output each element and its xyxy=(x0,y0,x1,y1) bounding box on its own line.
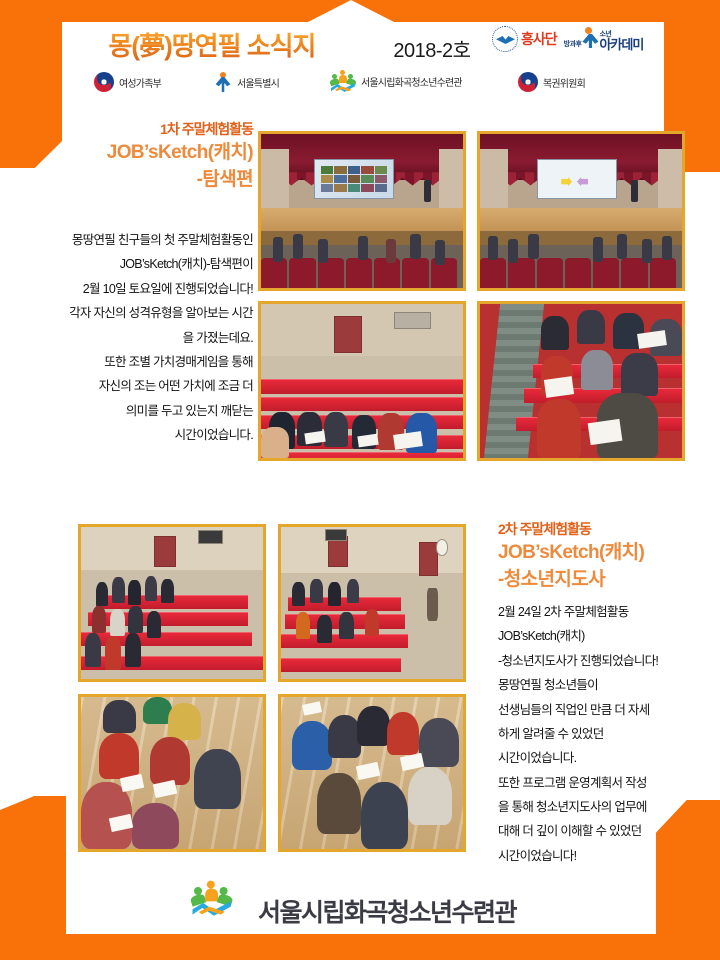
photo-stage-screen-collage xyxy=(258,131,466,291)
heungsadan-label: 흥사단 xyxy=(521,29,557,49)
section2-body-line: 2월 24일 2차 주말체험활동 xyxy=(498,600,716,624)
ministry-logo-row: 여성가족부 서울특별시 서울시립화곡청소년수련관 복권위원회 xyxy=(62,68,664,102)
academy-prefix-label: 방과후 xyxy=(564,39,582,51)
academy-figure-icon xyxy=(582,27,598,51)
photo-auditorium-hands-up-left xyxy=(78,524,266,682)
section1-body-line: JOB’sKetch(캐치)-탐색편이 xyxy=(6,252,253,276)
section1-body: 몽땅연필 친구들의 첫 주말체험활동인 JOB’sKetch(캐치)-탐색편이 … xyxy=(6,228,253,447)
section1-subtitle: -탐색편 xyxy=(8,166,253,194)
newsletter-page: 몽(夢)땅연필 소식지 2018-2호 흥사단 방과후 소년 아카데미 xyxy=(0,0,720,960)
section2-body-line: 또한 프로그램 운영계획서 작성 xyxy=(498,771,716,795)
bottom-orange-band xyxy=(0,934,720,960)
taegeuk-icon xyxy=(518,72,538,92)
section2-body-line: -청소년지도사가 진행되었습니다! xyxy=(498,649,716,673)
section2-body-line: JOB’sKetch(캐치) xyxy=(498,624,716,648)
academy-line2-label: 아카데미 xyxy=(599,38,643,51)
footer-organization-label: 서울시립화곡청소년수련관 xyxy=(258,893,516,929)
section1-photo-grid xyxy=(258,131,708,461)
section2-kicker: 2차 주말체험활동 xyxy=(498,520,713,539)
section2-body-line: 시간이었습니다! xyxy=(498,844,716,868)
section1-body-line: 몽땅연필 친구들의 첫 주말체험활동인 xyxy=(6,228,253,252)
lottery-commission-label: 복권위원회 xyxy=(543,75,585,90)
section2-body-line: 몽땅연필 청소년들이 xyxy=(498,673,716,697)
partner-logo-row: 흥사단 방과후 소년 아카데미 xyxy=(492,26,664,52)
people-star-icon xyxy=(330,70,356,92)
section1-body-line: 자신의 조는 어떤 가치에 조금 더 xyxy=(6,374,253,398)
section2-body-line: 선생님들의 직업인 만큼 더 자세 xyxy=(498,698,716,722)
heungsadan-logo: 흥사단 xyxy=(492,26,557,52)
photo-floor-group-activity-right xyxy=(278,694,466,852)
section1-body-line: 각자 자신의 성격유형을 알아보는 시간 xyxy=(6,301,253,325)
youth-academy-logo: 방과후 소년 아카데미 xyxy=(564,27,644,51)
photo-students-closeup-writing xyxy=(477,301,685,461)
masthead: 몽(夢)땅연필 소식지 2018-2호 흥사단 방과후 소년 아카데미 xyxy=(62,22,664,106)
section1-title: JOB’sKetch(캐치) xyxy=(8,139,253,167)
section1-body-line: 또한 조별 가치경매게임을 통해 xyxy=(6,350,253,374)
photo-auditorium-hands-up-right xyxy=(278,524,466,682)
section1-body-line: 시간이었습니다. xyxy=(6,423,253,447)
seoul-city-logo: 서울특별시 xyxy=(214,72,279,92)
mogef-label: 여성가족부 xyxy=(119,75,161,90)
section1-body-line: 을 가졌는데요. xyxy=(6,326,253,350)
photo-students-seated-writing xyxy=(258,301,466,461)
photo-floor-group-activity-left xyxy=(78,694,266,852)
photo-stage-screen-arrows xyxy=(477,131,685,291)
section2-body-line: 하게 알려줄 수 있었던 xyxy=(498,722,716,746)
seoul-figure-icon xyxy=(214,72,232,92)
section2-headline: 2차 주말체험활동 JOB’sKetch(캐치) -청소년지도사 xyxy=(498,520,713,594)
section2-body: 2월 24일 2차 주말체험활동 JOB’sKetch(캐치) -청소년지도사가… xyxy=(498,600,716,868)
section1-kicker: 1차 주말체험활동 xyxy=(8,120,253,139)
mogef-logo: 여성가족부 xyxy=(94,72,161,92)
section1-body-line: 2월 10일 토요일에 진행되었습니다! xyxy=(6,277,253,301)
section1-headline: 1차 주말체험활동 JOB’sKetch(캐치) -탐색편 xyxy=(8,120,253,194)
taegeuk-icon xyxy=(94,72,114,92)
heungsadan-bird-icon xyxy=(492,26,518,52)
section2-photo-grid xyxy=(78,524,468,854)
section2-body-line: 을 통해 청소년지도사의 업무에 xyxy=(498,795,716,819)
section1-body-line: 의미를 두고 있는지 깨닫는 xyxy=(6,399,253,423)
issue-number: 2018-2호 xyxy=(362,34,502,63)
newsletter-title: 몽(夢)땅연필 소식지 xyxy=(62,26,362,63)
people-star-icon xyxy=(191,881,261,942)
section2-subtitle: -청소년지도사 xyxy=(498,566,713,594)
section2-body-line: 대해 더 깊이 이해할 수 있었던 xyxy=(498,819,716,843)
seoul-city-label: 서울특별시 xyxy=(237,75,279,90)
footer-organization-logo: 서울시립화곡청소년수련관 xyxy=(0,890,720,932)
section2-body-line: 시간이었습니다. xyxy=(498,746,716,770)
hwagok-youth-center-logo: 서울시립화곡청소년수련관 xyxy=(330,70,462,92)
lottery-commission-logo: 복권위원회 xyxy=(518,72,585,92)
section2-title: JOB’sKetch(캐치) xyxy=(498,539,713,567)
hwagok-youth-center-label: 서울시립화곡청소년수련관 xyxy=(361,74,462,89)
